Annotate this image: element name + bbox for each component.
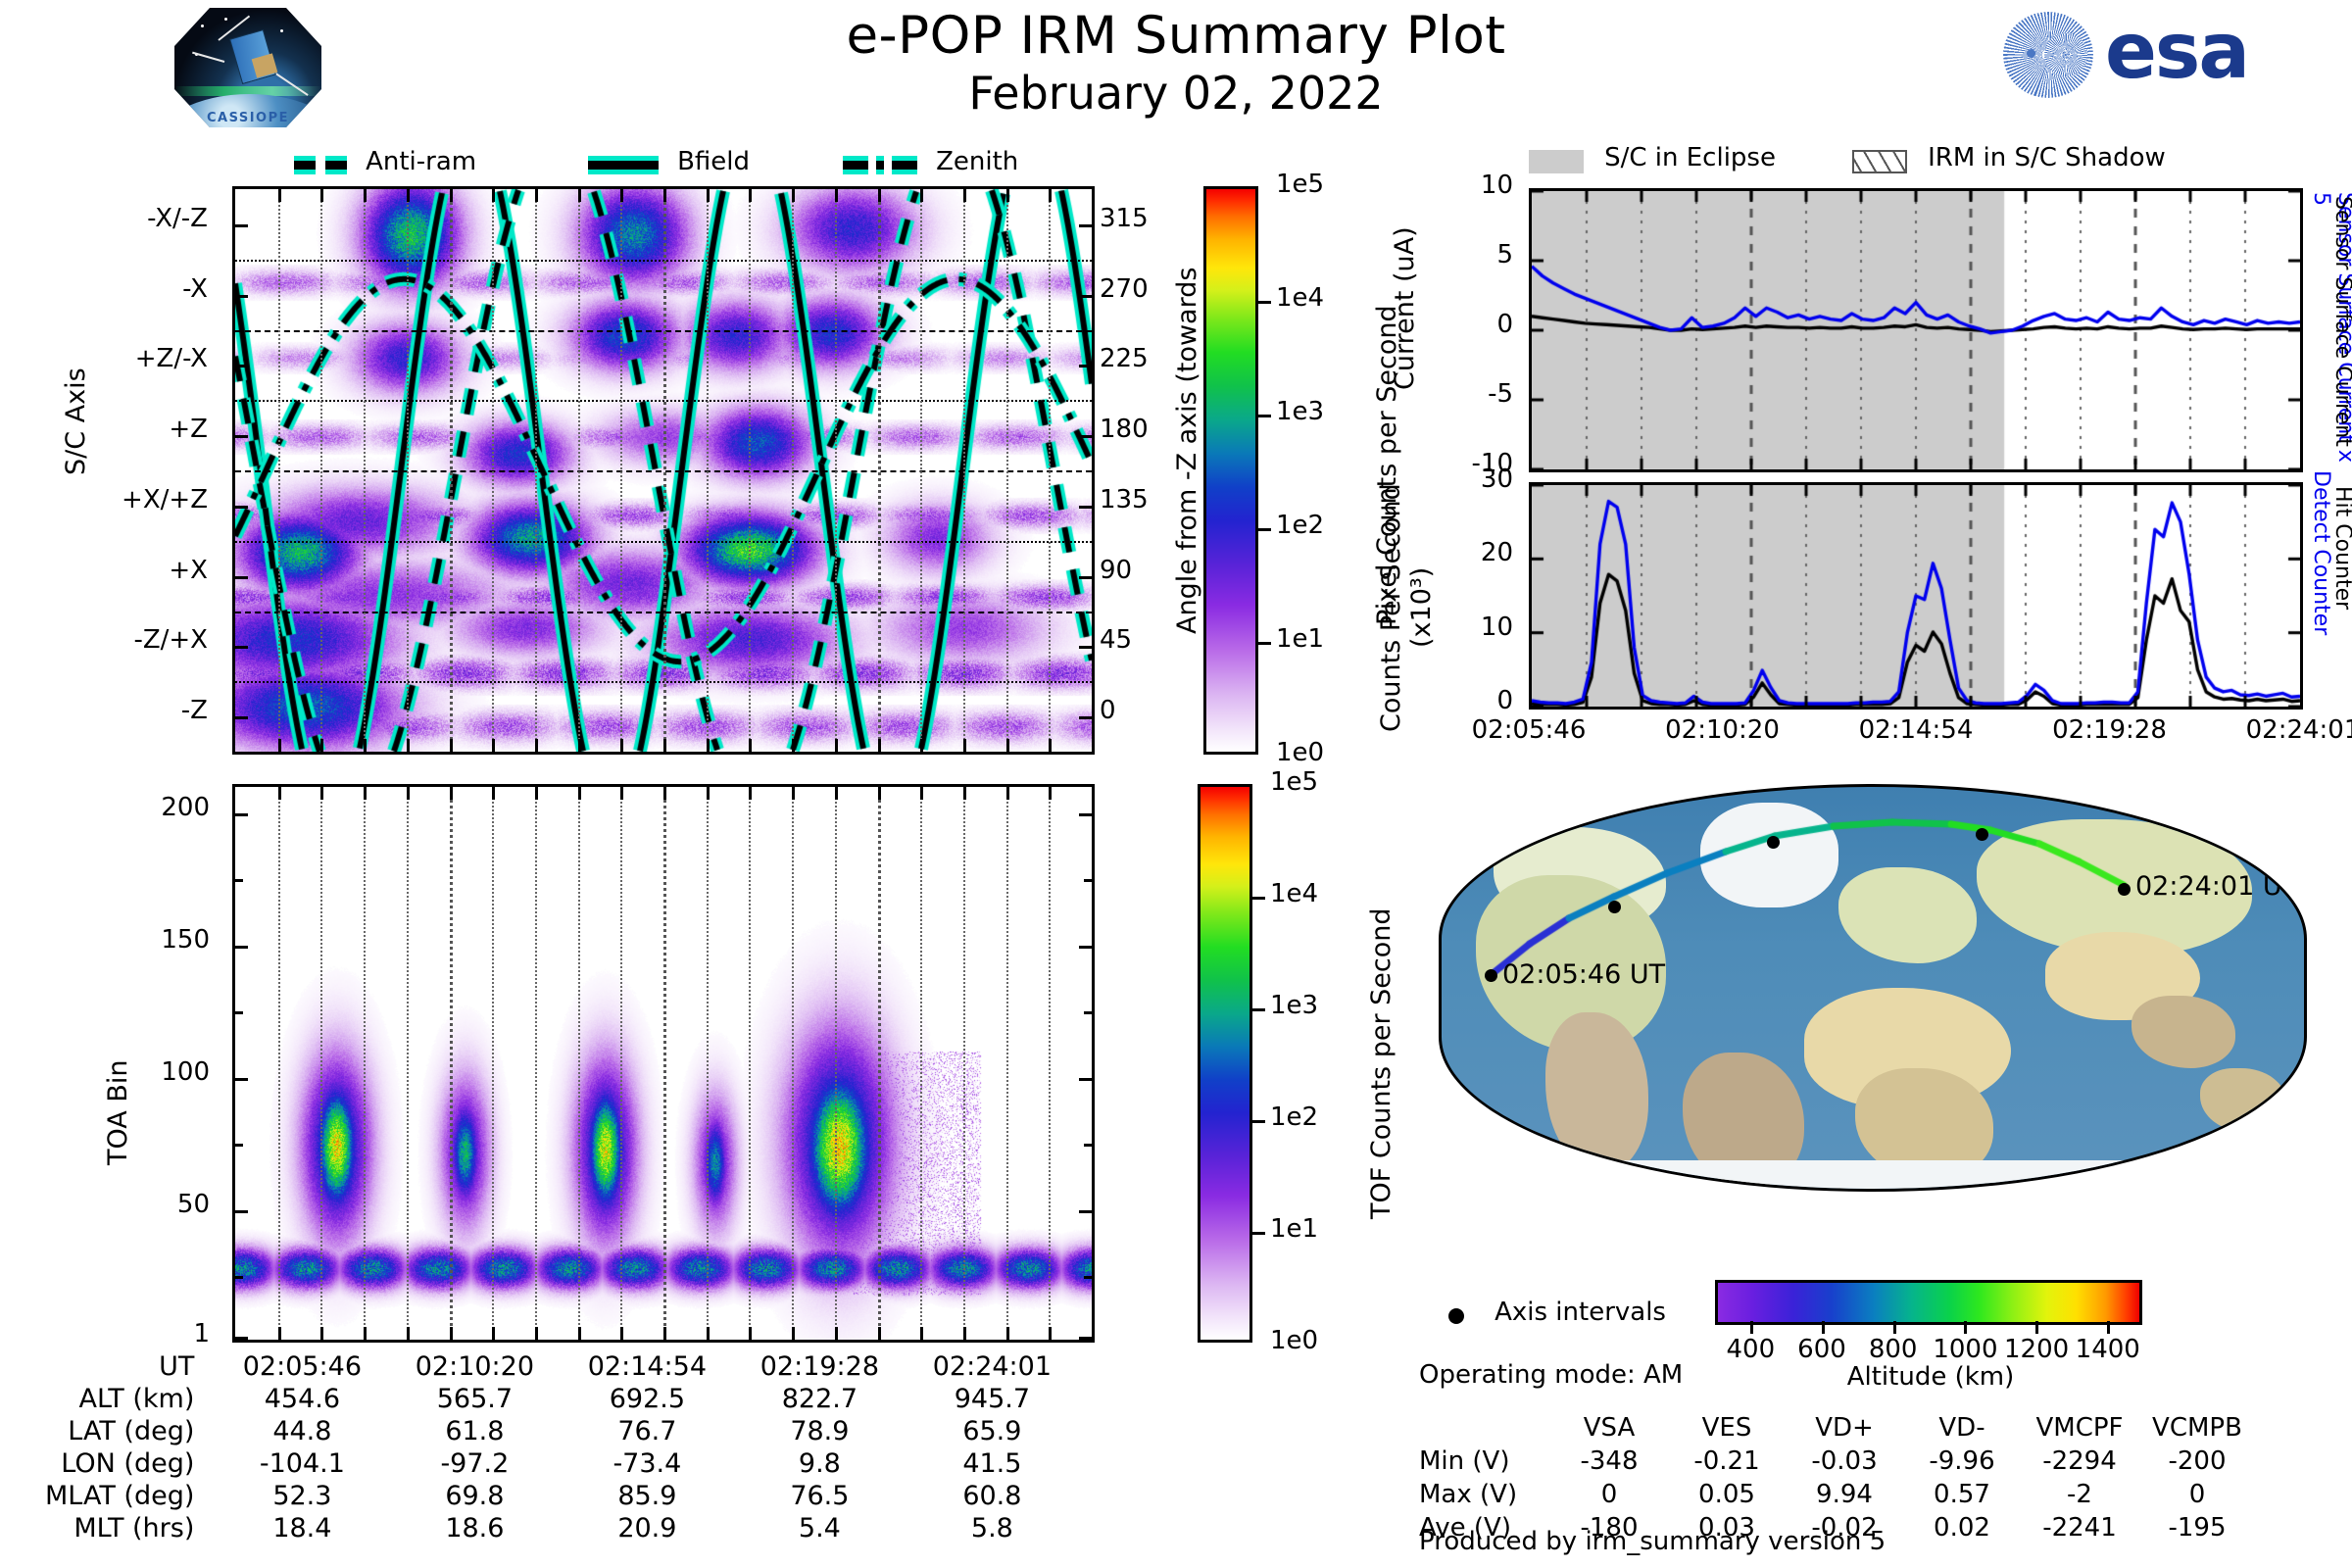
anti-ram-legend-label: Anti-ram xyxy=(366,147,476,176)
voltage-cell: -2 xyxy=(2021,1478,2138,1511)
voltage-cell: -0.21 xyxy=(1668,1445,1786,1478)
esa-agency-logo: esa xyxy=(1997,6,2311,102)
spectrogram-legend: Anti-ram Bfield Zenith xyxy=(0,137,1078,186)
voltage-cell: 0.57 xyxy=(1903,1478,2021,1511)
voltage-cell: -9.96 xyxy=(1903,1445,2021,1478)
tof-counts-colorbar-ticks: 1e01e11e21e31e41e5 xyxy=(1258,769,1376,1357)
ephemeris-cell: 02:10:20 xyxy=(388,1350,561,1383)
cassiope-mission-logo: CASSIOPE xyxy=(174,8,321,127)
pixel-counts-colorbar xyxy=(1203,186,1258,755)
ephemeris-row: UT02:05:4602:10:2002:14:5402:19:2802:24:… xyxy=(45,1350,1078,1383)
voltage-cell: -195 xyxy=(2138,1511,2256,1544)
voltage-cell: -200 xyxy=(2138,1445,2256,1478)
ephemeris-cell: 18.6 xyxy=(388,1512,561,1544)
tof-cb-tick-1e3: 1e3 xyxy=(1270,991,1318,1020)
ephemeris-cell: 9.8 xyxy=(733,1447,906,1480)
voltage-cell: 9.94 xyxy=(1786,1478,1903,1511)
ephemeris-cell: -97.2 xyxy=(388,1447,561,1480)
altitude-tick-1400: 1400 xyxy=(2076,1335,2138,1364)
track-start-dot xyxy=(1485,969,1497,982)
track-end-dot xyxy=(2118,883,2131,896)
axis-intervals-label: Axis intervals xyxy=(1494,1298,1666,1327)
sc-axis-right-tick-0: 0 xyxy=(1100,696,1116,725)
current-ytick-labels: -10-50510 xyxy=(1423,186,1513,284)
voltage-cell: -0.03 xyxy=(1786,1445,1903,1478)
voltage-cell: -2241 xyxy=(2021,1511,2138,1544)
toa-ytick-150: 150 xyxy=(161,925,210,955)
counts-ytick-20: 20 xyxy=(1481,538,1513,567)
ephemeris-cell: 76.7 xyxy=(561,1415,733,1447)
ephemeris-row-label: UT xyxy=(45,1350,216,1383)
current-ytick-0: 0 xyxy=(1496,310,1513,339)
tof-cb-tick-1e5: 1e5 xyxy=(1270,767,1318,797)
zenith-legend-label: Zenith xyxy=(936,147,1018,176)
pixel-cb-tick-1e5: 1e5 xyxy=(1276,170,1324,199)
tof-counts-colorbar xyxy=(1198,784,1252,1343)
voltage-cell: -2294 xyxy=(2021,1445,2138,1478)
counts-ytick-labels: 0102030 xyxy=(1441,480,1513,578)
voltage-row: Min (V)-348-0.21-0.03-9.96-2294-200 xyxy=(1419,1445,2256,1478)
tof-cb-tick-1e0: 1e0 xyxy=(1270,1326,1318,1355)
sc-axis-ytick-labels: -Z-Z/+X+X+X/+Z+Z+Z/-X-X-X/-Z xyxy=(98,186,223,755)
shadow-swatch xyxy=(1852,150,1907,173)
sc-axis-right-tick-225: 225 xyxy=(1100,344,1149,373)
voltage-row-label: Min (V) xyxy=(1419,1445,1550,1478)
sc-axis-right-tick-315: 315 xyxy=(1100,204,1149,233)
ephemeris-table: UT02:05:4602:10:2002:14:5402:19:2802:24:… xyxy=(45,1350,1078,1544)
counts-ytick-10: 10 xyxy=(1481,612,1513,642)
altitude-tick-800: 800 xyxy=(1862,1335,1925,1364)
tof-cb-tick-1e4: 1e4 xyxy=(1270,879,1318,908)
produced-by-label: Produced by irm_summary version 5 xyxy=(1419,1527,1886,1556)
track-start-label: 02:05:46 UT xyxy=(1502,959,1665,990)
ephemeris-cell: 65.9 xyxy=(906,1415,1078,1447)
tof-counts-colorbar-label: TOF Counts per Second xyxy=(1366,902,1396,1225)
sc-axis-ytick--Z: -Z xyxy=(181,696,208,725)
voltage-row-label: Max (V) xyxy=(1419,1478,1550,1511)
ephemeris-cell: 02:05:46 xyxy=(216,1350,388,1383)
ephemeris-row-label: LON (deg) xyxy=(45,1447,216,1480)
ephemeris-cell: 18.4 xyxy=(216,1512,388,1544)
voltage-header-row: VSAVESVD+VD-VMCPFVCMPB xyxy=(1419,1411,2256,1445)
track-dot-1 xyxy=(1608,901,1621,913)
ephemeris-cell: 60.8 xyxy=(906,1480,1078,1512)
eclipse-legend-label: S/C in Eclipse xyxy=(1604,143,1776,172)
axis-interval-dot-icon xyxy=(1448,1308,1464,1324)
ephemeris-cell: 945.7 xyxy=(906,1383,1078,1415)
counts-ytick-30: 30 xyxy=(1481,465,1513,494)
sc-axis-ytick-+Z/-X: +Z/-X xyxy=(135,344,208,373)
altitude-tick-1000: 1000 xyxy=(1933,1335,1995,1364)
time-tick-02:24:01: 02:24:01 xyxy=(2215,715,2352,745)
current-ytick-5: 5 xyxy=(1496,240,1513,269)
counts-ytick-0: 0 xyxy=(1496,686,1513,715)
tof-cb-tick-1e2: 1e2 xyxy=(1270,1102,1318,1132)
time-tick-02:05:46: 02:05:46 xyxy=(1441,715,1617,745)
pixel-cb-tick-1e3: 1e3 xyxy=(1276,397,1324,426)
ephemeris-cell: 52.3 xyxy=(216,1480,388,1512)
altitude-tick-1200: 1200 xyxy=(2004,1335,2067,1364)
sc-axis-right-tick-270: 270 xyxy=(1100,274,1149,304)
voltage-cell: -348 xyxy=(1550,1445,1668,1478)
toa-bin-spectrogram-panel[interactable] xyxy=(232,784,1095,1343)
current-right-label-black: Sensor Surface Current xyxy=(2330,196,2352,480)
current-ytick-10: 10 xyxy=(1481,171,1513,200)
track-dot-2 xyxy=(1767,836,1780,849)
altitude-tick-400: 400 xyxy=(1719,1335,1782,1364)
voltage-table: VSAVESVD+VD-VMCPFVCMPBMin (V)-348-0.21-0… xyxy=(1419,1411,2256,1544)
sc-axis-ylabel: S/C Axis xyxy=(61,304,91,539)
ephemeris-row: LON (deg)-104.1-97.2-73.49.841.5 xyxy=(45,1447,1078,1480)
pixel-cb-tick-1e2: 1e2 xyxy=(1276,511,1324,540)
current-ytick--5: -5 xyxy=(1488,379,1513,409)
ephemeris-cell: 02:14:54 xyxy=(561,1350,733,1383)
esa-logo-text: esa xyxy=(2105,10,2248,94)
sc-axis-ytick-+X: +X xyxy=(169,556,208,585)
ephemeris-cell: 454.6 xyxy=(216,1383,388,1415)
time-tick-02:10:20: 02:10:20 xyxy=(1635,715,1811,745)
ephemeris-cell: 69.8 xyxy=(388,1480,561,1512)
sc-axis-ytick-+X/+Z: +X/+Z xyxy=(122,485,208,514)
cassiope-logo-text: CASSIOPE xyxy=(174,111,321,125)
pixel-cb-tick-1e1: 1e1 xyxy=(1276,624,1324,654)
sc-axis-ytick-+Z: +Z xyxy=(169,415,208,444)
current-panel[interactable] xyxy=(1529,188,2303,472)
voltage-cell: 0 xyxy=(2138,1478,2256,1511)
ephemeris-cell: 44.8 xyxy=(216,1415,388,1447)
bfield-legend-label: Bfield xyxy=(677,147,750,176)
ephemeris-cell: 85.9 xyxy=(561,1480,733,1512)
track-dot-3 xyxy=(1976,828,1988,841)
tof-cb-tick-1e1: 1e1 xyxy=(1270,1214,1318,1244)
ephemeris-cell: 76.5 xyxy=(733,1480,906,1512)
ephemeris-cell: 692.5 xyxy=(561,1383,733,1415)
toa-bin-ytick-labels: 150100150200 xyxy=(137,784,223,1343)
bfield-legend-swatch xyxy=(588,161,659,170)
ephemeris-row-label: MLAT (deg) xyxy=(45,1480,216,1512)
voltage-cell: 0.02 xyxy=(1903,1511,2021,1544)
voltage-column-header: VES xyxy=(1668,1411,1786,1445)
voltage-column-header: VD+ xyxy=(1786,1411,1903,1445)
voltage-column-header: VMCPF xyxy=(2021,1411,2138,1445)
anti-ram-legend-swatch xyxy=(294,161,316,170)
pixel-cb-tick-1e0: 1e0 xyxy=(1276,738,1324,767)
ground-track-map[interactable]: 02:05:46 UT 02:24:01 UT xyxy=(1439,784,2307,1192)
voltage-cell: 0.05 xyxy=(1668,1478,1786,1511)
toa-ytick-1: 1 xyxy=(193,1319,210,1348)
time-tick-02:19:28: 02:19:28 xyxy=(2022,715,2198,745)
voltage-cell: 0 xyxy=(1550,1478,1668,1511)
track-end-label: 02:24:01 UT xyxy=(2135,871,2298,902)
ephemeris-row: ALT (km)454.6565.7692.5822.7945.7 xyxy=(45,1383,1078,1415)
eclipse-legend: S/C in Eclipse IRM in S/C Shadow xyxy=(1529,137,2352,182)
ephemeris-cell: 78.9 xyxy=(733,1415,906,1447)
ephemeris-row-label: ALT (km) xyxy=(45,1383,216,1415)
ephemeris-cell: 5.8 xyxy=(906,1512,1078,1544)
toa-ytick-50: 50 xyxy=(177,1190,210,1219)
ephemeris-row: MLAT (deg)52.369.885.976.560.8 xyxy=(45,1480,1078,1512)
shadow-legend-label: IRM in S/C Shadow xyxy=(1928,143,2166,172)
ephemeris-cell: 822.7 xyxy=(733,1383,906,1415)
ephemeris-cell: 41.5 xyxy=(906,1447,1078,1480)
current-ylabel: Current (uA) xyxy=(1390,211,1420,407)
eclipse-swatch xyxy=(1529,150,1584,173)
sc-axis-ytick--X: -X xyxy=(182,274,208,304)
ephemeris-cell: -104.1 xyxy=(216,1447,388,1480)
ephemeris-cell: 61.8 xyxy=(388,1415,561,1447)
time-tick-02:14:54: 02:14:54 xyxy=(1828,715,2004,745)
axis-intervals-legend: Axis intervals xyxy=(1448,1298,1666,1327)
sc-axis-ytick--Z/+X: -Z/+X xyxy=(133,625,208,655)
ephemeris-cell: 02:24:01 xyxy=(906,1350,1078,1383)
counts-ylabel: Counts Per Second (x10³) xyxy=(1376,480,1437,735)
sc-axis-right-tick-135: 135 xyxy=(1100,485,1149,514)
ephemeris-row-label: LAT (deg) xyxy=(45,1415,216,1447)
toa-ytick-200: 200 xyxy=(161,793,210,822)
ephemeris-row: LAT (deg)44.861.876.778.965.9 xyxy=(45,1415,1078,1447)
altitude-colorbar-label: Altitude (km) xyxy=(1735,1362,2127,1392)
ephemeris-cell: 20.9 xyxy=(561,1512,733,1544)
sc-axis-right-tick-90: 90 xyxy=(1100,556,1132,585)
ephemeris-cell: 565.7 xyxy=(388,1383,561,1415)
sc-axis-spectrogram-panel[interactable] xyxy=(232,186,1095,755)
toa-ytick-100: 100 xyxy=(161,1057,210,1087)
counts-panel[interactable] xyxy=(1529,482,2303,710)
ephemeris-cell: 02:19:28 xyxy=(733,1350,906,1383)
counts-xtick-labels: 02:05:4602:10:2002:14:5402:19:2802:24:01 xyxy=(1499,715,2323,755)
altitude-tick-600: 600 xyxy=(1790,1335,1853,1364)
sc-axis-right-tick-45: 45 xyxy=(1100,625,1132,655)
voltage-column-header: VCMPB xyxy=(2138,1411,2256,1445)
toa-bin-ylabel: TOA Bin xyxy=(103,1019,133,1205)
pixel-cb-tick-1e4: 1e4 xyxy=(1276,283,1324,313)
voltage-column-header: VSA xyxy=(1550,1411,1668,1445)
ephemeris-cell: 5.4 xyxy=(733,1512,906,1544)
pixel-counts-colorbar-ticks: 1e01e11e21e31e41e5 xyxy=(1264,171,1382,769)
sc-axis-right-tick-labels: 04590135180225270315 xyxy=(1100,186,1168,755)
ephemeris-row: MLT (hrs)18.418.620.95.45.8 xyxy=(45,1512,1078,1544)
sc-axis-ytick--X/-Z: -X/-Z xyxy=(147,204,208,233)
ephemeris-cell: -73.4 xyxy=(561,1447,733,1480)
counts-right-label-black: Hit Counter xyxy=(2330,486,2352,711)
ephemeris-row-label: MLT (hrs) xyxy=(45,1512,216,1544)
voltage-column-header: VD- xyxy=(1903,1411,2021,1445)
voltage-row: Max (V)00.059.940.57-20 xyxy=(1419,1478,2256,1511)
altitude-colorbar xyxy=(1715,1280,2142,1325)
operating-mode-label: Operating mode: AM xyxy=(1419,1360,1683,1390)
zenith-legend-swatch xyxy=(843,161,868,170)
sc-axis-right-tick-180: 180 xyxy=(1100,415,1149,444)
